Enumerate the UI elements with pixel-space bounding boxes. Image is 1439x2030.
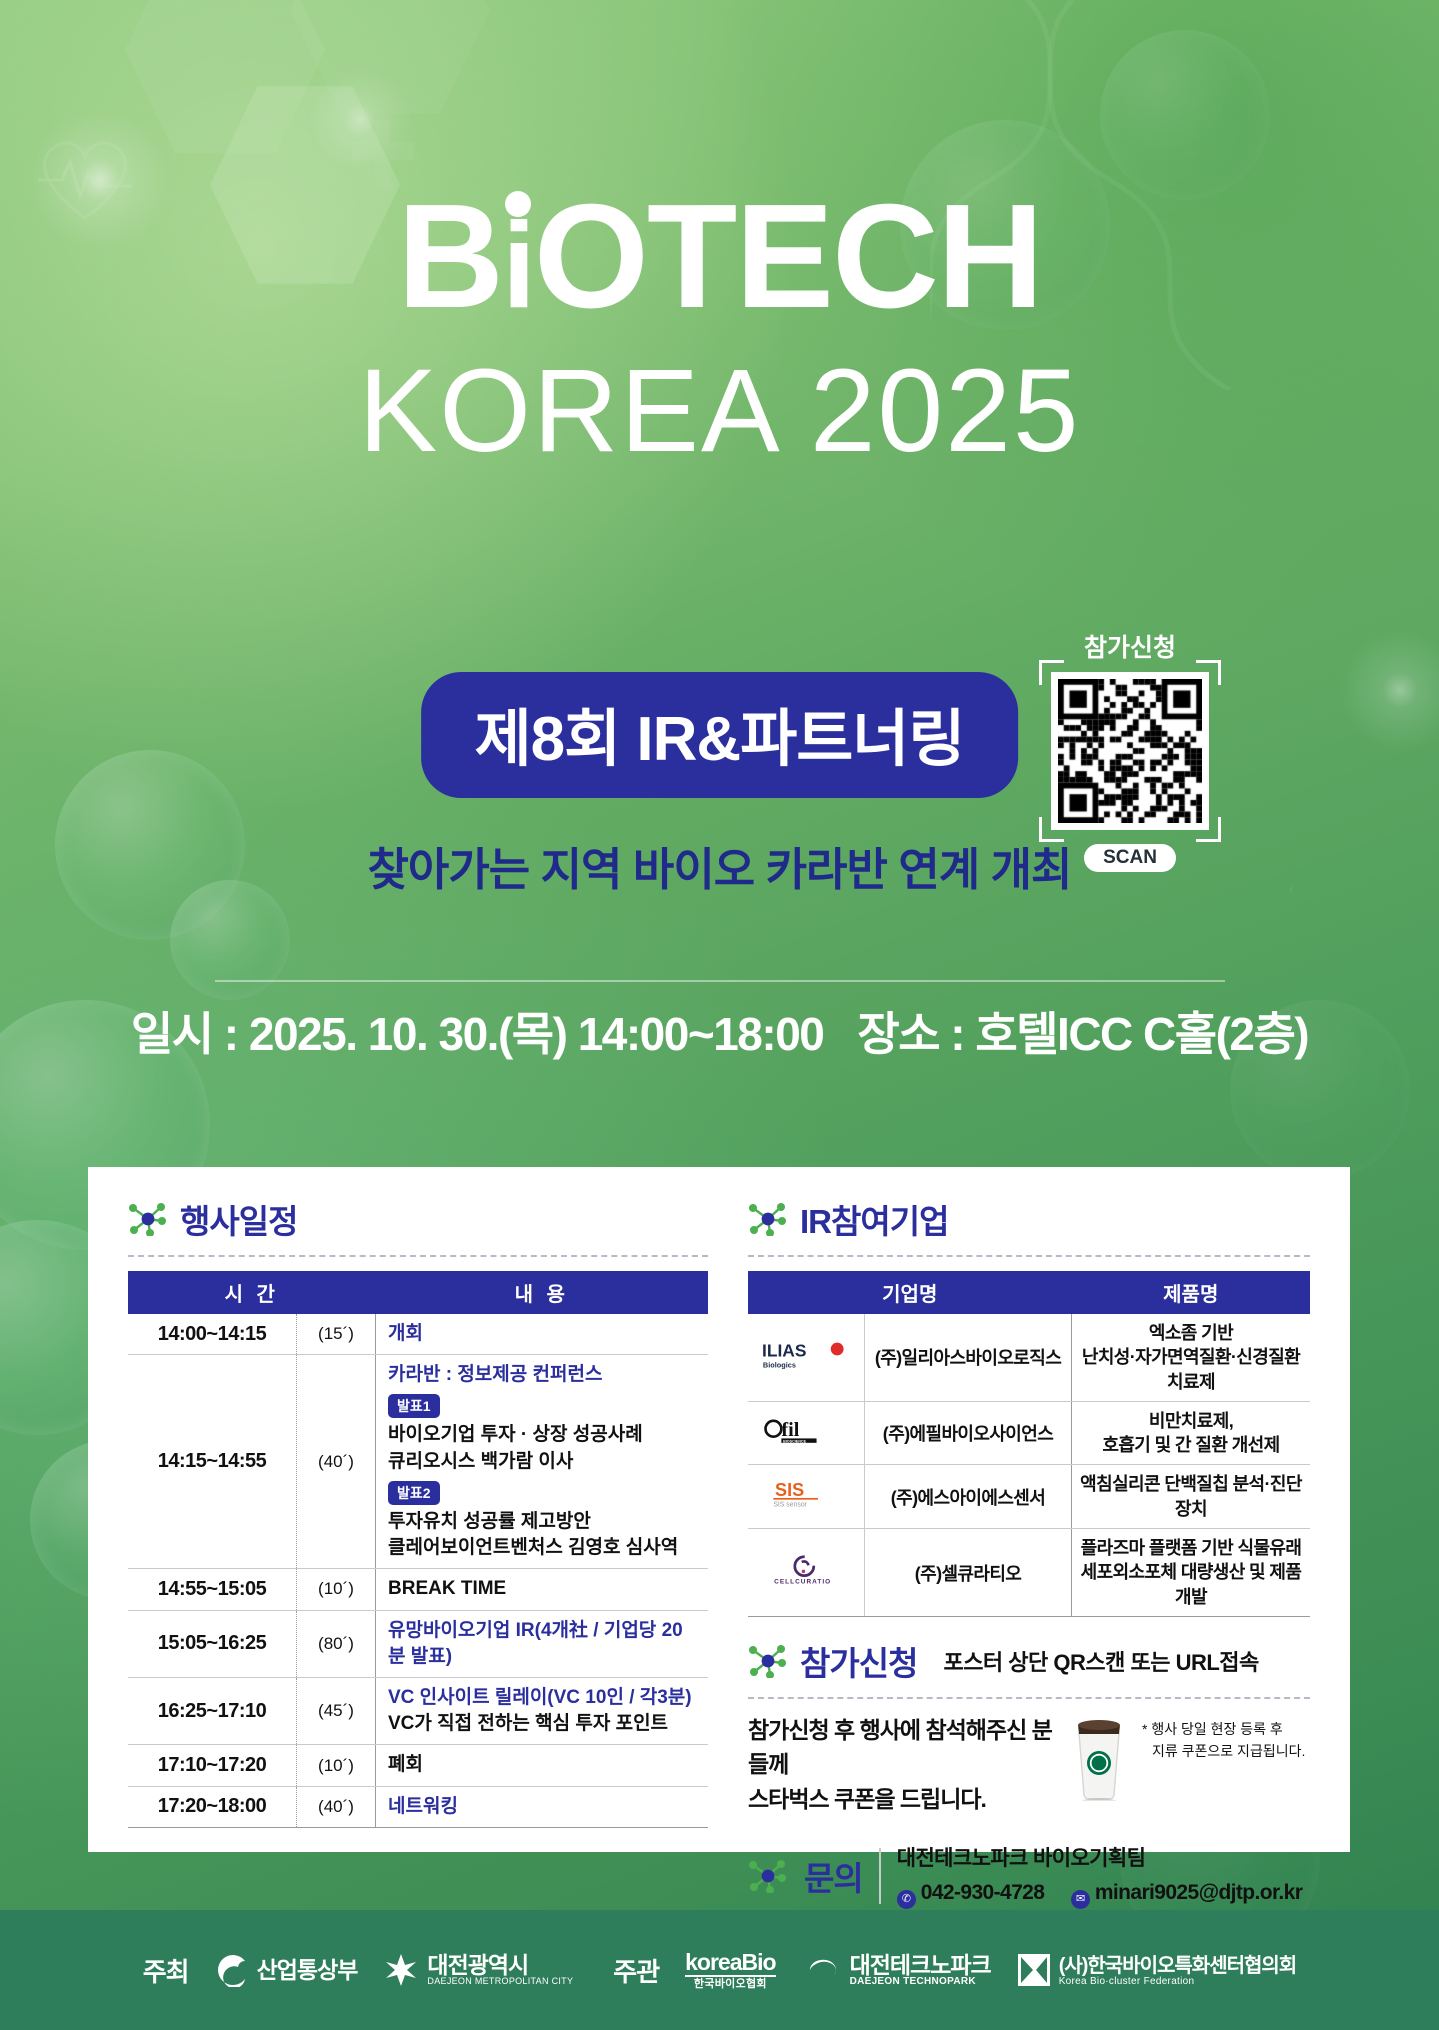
contact-org: 대전테크노파크 바이오기획팀 xyxy=(897,1842,1303,1876)
motie-logo-icon xyxy=(215,1953,249,1987)
registration-line1: 참가신청 후 행사에 참석해주신 분들께 xyxy=(748,1713,1056,1782)
svg-text:SIS: SIS xyxy=(775,1480,804,1500)
qr-code[interactable] xyxy=(1051,672,1209,830)
mail-icon: ✉ xyxy=(1071,1890,1090,1909)
registration-line2: 스타벅스 쿠폰을 드립니다. xyxy=(748,1782,1056,1817)
company-name: (주)셀큐라티오 xyxy=(865,1529,1072,1617)
svg-text:fil: fil xyxy=(781,1419,799,1441)
schedule-time: 16:25~17:10 xyxy=(128,1677,297,1744)
table-row: SISSIS sensor(주)에스아이에스센서액침실리콘 단백질칩 분석·진단… xyxy=(748,1465,1310,1529)
right-column: IR참여기업 기업명 제품명 ILIASBiologics(주)일리아스바이오로… xyxy=(748,1195,1310,1910)
product-name: 액침실리콘 단백질칩 분석·진단장치 xyxy=(1072,1465,1311,1529)
registration-note-line1: * 행사 당일 현장 등록 후 xyxy=(1142,1719,1310,1741)
contact-divider xyxy=(879,1848,881,1904)
table-header-row: 시 간 내 용 xyxy=(128,1271,708,1314)
col-header-content: 내 용 xyxy=(376,1271,709,1314)
registration-body: 참가신청 후 행사에 참석해주신 분들께 스타벅스 쿠폰을 드립니다. * 행사… xyxy=(748,1713,1310,1817)
schedule-duration: (45´) xyxy=(297,1677,376,1744)
table-row: 17:10~17:20(10´)폐회 xyxy=(128,1745,708,1786)
schedule-time: 17:20~18:00 xyxy=(128,1786,297,1827)
schedule-divider xyxy=(128,1255,708,1257)
product-name: 플라즈마 플랫폼 기반 식물유래세포외소포체 대량생산 및 제품개발 xyxy=(1072,1529,1311,1617)
svg-text:Biologics: Biologics xyxy=(763,1361,796,1370)
djtp-logo-icon xyxy=(802,1955,842,1985)
footer-org-djtp: 대전테크노파크 DAEJEON TECHNOPARK xyxy=(802,1953,991,1988)
schedule-session-badge: 발표1 xyxy=(388,1394,440,1418)
footer-org-title: 대전테크노파크 xyxy=(850,1952,991,1978)
product-line: 엑소좀 기반 xyxy=(1080,1321,1302,1345)
schedule-content-title: 유망바이오기업 IR(4개社 / 기업당 20분 발표) xyxy=(388,1618,700,1670)
svg-text:BIOSCIENCE: BIOSCIENCE xyxy=(783,1439,806,1443)
qr-corner-icon xyxy=(1039,660,1064,685)
svg-text:CELLCURATIO: CELLCURATIO xyxy=(774,1578,831,1585)
schedule-duration: (40´) xyxy=(297,1355,376,1569)
footer-org-name: 산업통상부 xyxy=(257,1958,358,1982)
event-venue: 장소 : 호텔ICC C홀(2층) xyxy=(857,1008,1308,1060)
phone-icon: ✆ xyxy=(897,1890,916,1909)
footer-org-subtitle: DAEJEON METROPOLITAN CITY xyxy=(427,1977,573,1986)
ilias-biologics-logo: ILIASBiologics xyxy=(748,1314,865,1401)
cellcuratio-logo: CELLCURATIO xyxy=(748,1529,865,1617)
company-name: (주)에필바이오사이언스 xyxy=(865,1401,1072,1465)
svg-text:ILIAS: ILIAS xyxy=(762,1341,807,1361)
contact-email[interactable]: minari9025@djtp.or.kr xyxy=(1095,1881,1302,1904)
contact-details: 대전테크노파크 바이오기획팀 ✆042-930-4728 ✉minari9025… xyxy=(897,1842,1303,1909)
registration-note: * 행사 당일 현장 등록 후 지류 쿠폰으로 지급됩니다. xyxy=(1142,1719,1310,1762)
footer-organizer-label: 주관 xyxy=(613,1952,659,1989)
schedule-session-badge: 발표2 xyxy=(388,1481,440,1505)
product-line: 난치성·자가면역질환·신경질환 치료제 xyxy=(1080,1345,1302,1394)
footer-org-subtitle: DAEJEON TECHNOPARK xyxy=(850,1977,991,1988)
starbucks-cup-icon xyxy=(1066,1715,1132,1801)
schedule-time: 14:55~15:05 xyxy=(128,1569,297,1610)
registration-divider xyxy=(748,1697,1310,1699)
schedule-time: 14:00~14:15 xyxy=(128,1314,297,1355)
registration-text: 참가신청 후 행사에 참석해주신 분들께 스타벅스 쿠폰을 드립니다. xyxy=(748,1713,1056,1817)
schedule-content: VC 인사이트 릴레이(VC 10인 / 각3분)VC가 직접 전하는 핵심 투… xyxy=(376,1677,709,1744)
event-date: 일시 : 2025. 10. 30.(목) 14:00~18:00 xyxy=(131,1008,824,1060)
ir-companies-table: 기업명 제품명 ILIASBiologics(주)일리아스바이오로직스엑소좀 기… xyxy=(748,1271,1310,1617)
table-row: 14:15~14:55(40´)카라반 : 정보제공 컨퍼런스발표1바이오기업 … xyxy=(128,1355,708,1569)
product-line: 플라즈마 플랫폼 기반 식물유래 xyxy=(1080,1536,1302,1560)
ir-title: IR참여기업 xyxy=(800,1195,948,1243)
schedule-content: 네트워킹 xyxy=(376,1786,709,1827)
product-line: 액침실리콘 단백질칩 분석·진단장치 xyxy=(1080,1472,1302,1521)
schedule-duration: (10´) xyxy=(297,1745,376,1786)
schedule-content: 개회 xyxy=(376,1314,709,1355)
company-name: (주)일리아스바이오로직스 xyxy=(865,1314,1072,1401)
schedule-time: 15:05~16:25 xyxy=(128,1610,297,1677)
product-name: 비만치료제,호흡기 및 간 질환 개선제 xyxy=(1072,1401,1311,1465)
qr-corner-icon xyxy=(1196,660,1221,685)
kbcf-logo-icon xyxy=(1017,1953,1051,1987)
schedule-duration: (80´) xyxy=(297,1610,376,1677)
schedule-table: 시 간 내 용 14:00~14:15(15´)개회14:15~14:55(40… xyxy=(128,1271,708,1828)
footer-org-name: koreaBio 한국바이오협회 xyxy=(685,1950,775,1991)
schedule-content: 카라반 : 정보제공 컨퍼런스발표1바이오기업 투자 · 상장 성공사례큐리오시… xyxy=(376,1355,709,1569)
footer-org-subtitle: 한국바이오협회 xyxy=(685,1979,775,1991)
event-when-where: 일시 : 2025. 10. 30.(목) 14:00~18:00장소 : 호텔… xyxy=(0,998,1439,1064)
bubble xyxy=(170,880,290,1000)
schedule-content-title: VC 인사이트 릴레이(VC 10인 / 각3분) xyxy=(388,1685,700,1711)
product-line: 세포외소포체 대량생산 및 제품개발 xyxy=(1080,1560,1302,1609)
molecule-icon xyxy=(128,1202,168,1236)
footer-org-subtitle: Korea Bio·cluster Federation xyxy=(1059,1977,1297,1988)
footer-org-daejeon: 대전광역시 DAEJEON METROPOLITAN CITY xyxy=(383,1952,573,1988)
schedule-content-title: BREAK TIME xyxy=(388,1576,700,1602)
schedule-content-title: 카라반 : 정보제공 컨퍼런스 xyxy=(388,1362,700,1388)
sis-sensor-logo: SISSIS sensor xyxy=(748,1465,865,1529)
schedule-section: 행사일정 시 간 내 용 14:00~14:15(15´)개회14:15~14:… xyxy=(128,1195,708,1828)
schedule-heading: 행사일정 xyxy=(128,1195,708,1243)
qr-corner-icon xyxy=(1196,817,1221,842)
schedule-content-title: 네트워킹 xyxy=(388,1794,700,1820)
schedule-detail-line: 클레어보이언트벤처스 김영호 심사역 xyxy=(388,1535,700,1561)
event-brand-line2: KOREA 2025 xyxy=(0,352,1439,470)
schedule-content-title: 폐회 xyxy=(388,1752,700,1778)
schedule-content: 폐회 xyxy=(376,1745,709,1786)
ir-heading: IR참여기업 xyxy=(748,1195,1310,1243)
efil-bioscience-logo: filBIOSCIENCE xyxy=(748,1401,865,1465)
schedule-duration: (40´) xyxy=(297,1786,376,1827)
schedule-content: BREAK TIME xyxy=(376,1569,709,1610)
schedule-time: 17:10~17:20 xyxy=(128,1745,297,1786)
schedule-content: 유망바이오기업 IR(4개社 / 기업당 20분 발표) xyxy=(376,1610,709,1677)
ir-divider xyxy=(748,1255,1310,1257)
product-name: 엑소좀 기반난치성·자가면역질환·신경질환 치료제 xyxy=(1072,1314,1311,1401)
footer-host-label: 주최 xyxy=(143,1952,189,1989)
svg-text:SIS sensor: SIS sensor xyxy=(773,1501,807,1508)
table-row: CELLCURATIO(주)셀큐라티오플라즈마 플랫폼 기반 식물유래세포외소포… xyxy=(748,1529,1310,1617)
table-row: 17:20~18:00(40´)네트워킹 xyxy=(128,1786,708,1827)
contact-phone[interactable]: 042-930-4728 xyxy=(921,1881,1045,1904)
schedule-duration: (15´) xyxy=(297,1314,376,1355)
schedule-detail-line: VC가 직접 전하는 핵심 투자 포인트 xyxy=(388,1711,700,1737)
qr-corner-icon xyxy=(1039,817,1064,842)
header-divider xyxy=(215,980,1225,982)
footer-org-kbcf: (사)한국바이오특화센터협의회 Korea Bio·cluster Federa… xyxy=(1017,1952,1297,1988)
qr-title: 참가신청 xyxy=(1035,628,1225,664)
registration-subtitle: 포스터 상단 QR스캔 또는 URL접속 xyxy=(943,1645,1258,1677)
footer-org-motie: 산업통상부 xyxy=(215,1953,358,1987)
table-row: ILIASBiologics(주)일리아스바이오로직스엑소좀 기반난치성·자가면… xyxy=(748,1314,1310,1401)
schedule-detail-line: 바이오기업 투자 · 상장 성공사례 xyxy=(388,1422,700,1448)
col-header-company: 기업명 xyxy=(748,1271,1072,1314)
footer-org-title: 대전광역시 xyxy=(427,1952,528,1978)
table-row: filBIOSCIENCE(주)에필바이오사이언스비만치료제,호흡기 및 간 질… xyxy=(748,1401,1310,1465)
molecule-icon xyxy=(748,1644,788,1678)
table-row: 15:05~16:25(80´)유망바이오기업 IR(4개社 / 기업당 20분… xyxy=(128,1610,708,1677)
event-brand-line1: BiOTECH xyxy=(0,186,1439,328)
product-line: 호흡기 및 간 질환 개선제 xyxy=(1080,1433,1302,1457)
contact-title: 문의 xyxy=(804,1852,863,1900)
registration-title: 참가신청 xyxy=(800,1637,917,1685)
content-card: 행사일정 시 간 내 용 14:00~14:15(15´)개회14:15~14:… xyxy=(88,1167,1350,1852)
footer-org-name: 대전광역시 DAEJEON METROPOLITAN CITY xyxy=(427,1953,573,1987)
footer-org-name: 대전테크노파크 DAEJEON TECHNOPARK xyxy=(850,1953,991,1988)
schedule-time: 14:15~14:55 xyxy=(128,1355,297,1569)
contact-section: 문의 대전테크노파크 바이오기획팀 ✆042-930-4728 ✉minari9… xyxy=(748,1842,1310,1909)
schedule-detail-line: 큐리오시스 백가람 이사 xyxy=(388,1449,700,1475)
qr-registration-block[interactable]: 참가신청 SCAN xyxy=(1035,628,1225,872)
col-header-time: 시 간 xyxy=(128,1271,376,1314)
molecule-icon xyxy=(748,1202,788,1236)
scan-button[interactable]: SCAN xyxy=(1084,844,1176,872)
footer-org-title: (사)한국바이오특화센터협의회 xyxy=(1059,1955,1297,1977)
molecule-icon xyxy=(748,1859,788,1893)
company-name: (주)에스아이에스센서 xyxy=(865,1465,1072,1529)
table-row: 16:25~17:10(45´)VC 인사이트 릴레이(VC 10인 / 각3분… xyxy=(128,1677,708,1744)
schedule-duration: (10´) xyxy=(297,1569,376,1610)
bubble xyxy=(1100,30,1270,200)
schedule-detail-line: 투자유치 성공률 제고방안 xyxy=(388,1509,700,1535)
table-row: 14:55~15:05(10´)BREAK TIME xyxy=(128,1569,708,1610)
schedule-title: 행사일정 xyxy=(180,1195,297,1243)
brand-i-dot xyxy=(505,191,531,217)
footer-org-name: (사)한국바이오특화센터협의회 Korea Bio·cluster Federa… xyxy=(1059,1952,1297,1988)
poster: BiOTECH KOREA 2025 제8회 IR&파트너링 찾아가는 지역 바… xyxy=(0,0,1439,2030)
daejeon-city-logo-icon xyxy=(383,1952,419,1988)
footer: 주최 산업통상부 대전광역시 DAEJEON METROPOLITAN CITY… xyxy=(0,1910,1439,2030)
footer-org-title: koreaBio xyxy=(685,1950,775,1977)
footer-org-koreabio: koreaBio 한국바이오협회 xyxy=(685,1950,775,1991)
event-badge: 제8회 IR&파트너링 xyxy=(421,672,1019,798)
registration-heading: 참가신청 포스터 상단 QR스캔 또는 URL접속 xyxy=(748,1637,1310,1685)
col-header-product: 제품명 xyxy=(1072,1271,1311,1314)
product-line: 비만치료제, xyxy=(1080,1409,1302,1433)
table-row: 14:00~14:15(15´)개회 xyxy=(128,1314,708,1355)
schedule-content-title: 개회 xyxy=(388,1321,700,1347)
table-header-row: 기업명 제품명 xyxy=(748,1271,1310,1314)
registration-note-line2: 지류 쿠폰으로 지급됩니다. xyxy=(1142,1741,1310,1763)
